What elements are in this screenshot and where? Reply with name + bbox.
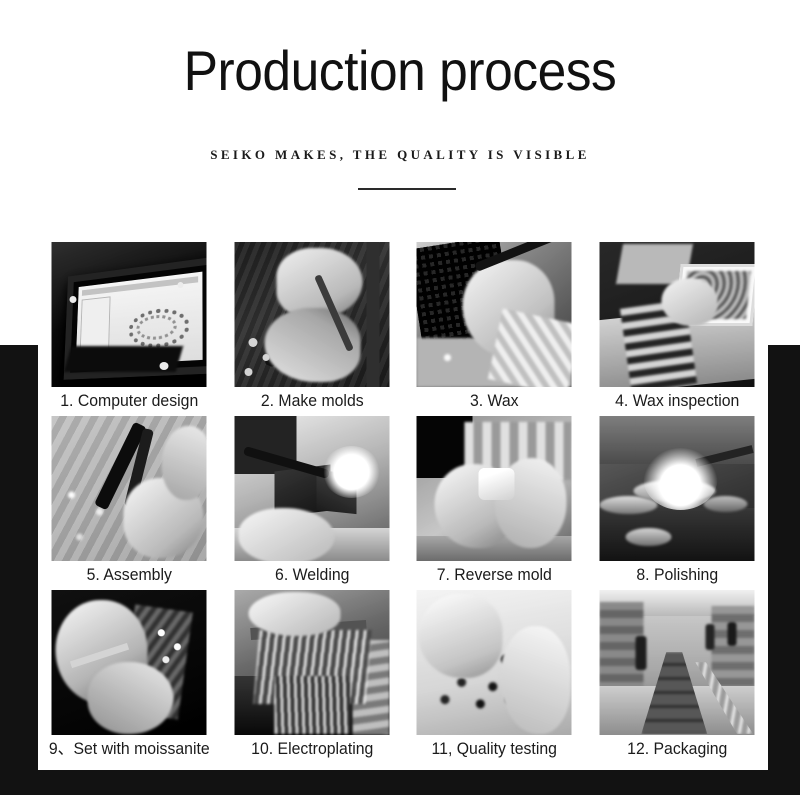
step-card-9[interactable]: 9、Set with moissanite xyxy=(38,590,221,764)
step-caption: 7. Reverse mold xyxy=(409,561,579,588)
production-process-page: Production process SEIKO MAKES, THE QUAL… xyxy=(0,0,800,795)
step-caption: 5. Assembly xyxy=(44,561,214,588)
step-card-3[interactable]: 3. Wax xyxy=(403,242,586,416)
steps-row: 9、Set with moissanite 10. Electro xyxy=(38,590,768,764)
packaging-photo xyxy=(599,590,754,735)
frame-bar-bottom xyxy=(0,770,800,795)
step-caption: 4. Wax inspection xyxy=(592,387,762,414)
wax-inspection-photo xyxy=(599,242,754,387)
step-caption: 8. Polishing xyxy=(592,561,762,588)
reverse-mold-photo xyxy=(417,416,572,561)
step-card-10[interactable]: 10. Electroplating xyxy=(221,590,404,764)
assembly-photo xyxy=(52,416,207,561)
step-caption: 12. Packaging xyxy=(592,735,762,762)
frame-bar-right xyxy=(768,345,800,795)
step-card-1[interactable]: 1. Computer design xyxy=(38,242,221,416)
set-moissanite-photo xyxy=(52,590,207,735)
polishing-photo xyxy=(599,416,754,561)
computer-design-photo xyxy=(52,242,207,387)
step-card-7[interactable]: 7. Reverse mold xyxy=(403,416,586,590)
welding-photo xyxy=(234,416,389,561)
step-caption: 10. Electroplating xyxy=(227,735,397,762)
step-caption: 11, Quality testing xyxy=(409,735,579,762)
step-caption: 6. Welding xyxy=(227,561,397,588)
header: Production process SEIKO MAKES, THE QUAL… xyxy=(0,0,800,232)
steps-row: 5. Assembly 6. Wel xyxy=(38,416,768,590)
step-caption: 1. Computer design xyxy=(44,387,214,414)
step-card-5[interactable]: 5. Assembly xyxy=(38,416,221,590)
frame-bar-left xyxy=(0,345,38,795)
wax-carving-photo xyxy=(417,242,572,387)
make-molds-photo xyxy=(234,242,389,387)
step-caption: 9、Set with moissanite xyxy=(44,735,214,762)
page-subtitle: SEIKO MAKES, THE QUALITY IS VISIBLE xyxy=(0,146,800,164)
page-title: Production process xyxy=(32,38,768,104)
step-card-6[interactable]: 6. Welding xyxy=(221,416,404,590)
step-caption: 2. Make molds xyxy=(227,387,397,414)
electroplating-photo xyxy=(234,590,389,735)
step-card-12[interactable]: 12. Packaging xyxy=(586,590,769,764)
title-divider xyxy=(358,188,456,190)
step-card-4[interactable]: 4. Wax inspection xyxy=(586,242,769,416)
step-card-11[interactable]: 11, Quality testing xyxy=(403,590,586,764)
step-card-8[interactable]: 8. Polishing xyxy=(586,416,769,590)
steps-row: 1. Computer design xyxy=(38,242,768,416)
step-caption: 3. Wax xyxy=(409,387,579,414)
steps-grid: 1. Computer design xyxy=(38,232,768,770)
steps-panel: 1. Computer design xyxy=(38,232,768,770)
step-card-2[interactable]: 2. Make molds xyxy=(221,242,404,416)
quality-testing-photo xyxy=(417,590,572,735)
